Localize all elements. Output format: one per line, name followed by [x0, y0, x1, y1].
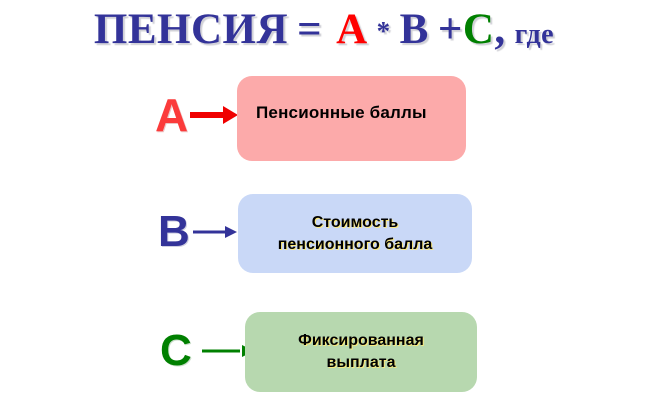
formula-variable-b: B [400, 6, 429, 53]
definition-card-c-line1: Фиксированная [298, 330, 424, 352]
formula-operator-plus: + [438, 6, 463, 53]
arrow-right-icon-a [190, 104, 238, 126]
legend-row-c: C [160, 329, 254, 373]
formula-variable-a: A [336, 6, 368, 53]
formula-operator-multiply: * [377, 16, 391, 46]
formula-comma: , [494, 6, 505, 53]
definition-card-c: Фиксированная выплата [245, 312, 477, 392]
arrow-right-icon-b [193, 224, 237, 240]
definition-card-a: Пенсионные баллы [237, 76, 466, 161]
formula-where-label: где [515, 19, 554, 50]
definition-card-b: Стоимость пенсионного балла [238, 194, 472, 273]
legend-row-b: B [158, 210, 237, 254]
definition-card-b-line2: пенсионного балла [278, 234, 433, 256]
formula-operator-equals: = [297, 6, 322, 53]
formula-variable-c: C [463, 6, 495, 53]
definition-card-c-line2: выплата [298, 352, 424, 374]
formula-term-pension: ПЕНСИЯ [94, 6, 288, 53]
legend-letter-a: A [155, 92, 188, 138]
legend-row-a: A [155, 92, 238, 138]
pension-formula-title: ПЕНСИЯ=A*B+C,где [0, 2, 648, 63]
definition-card-b-line1: Стоимость [278, 212, 433, 234]
legend-letter-b: B [158, 210, 190, 254]
legend-letter-c: C [160, 329, 192, 373]
definition-card-a-line1: Пенсионные баллы [256, 103, 427, 123]
slide-canvas: ПЕНСИЯ=A*B+C,где A Пенсионные баллы B Ст… [0, 0, 648, 404]
